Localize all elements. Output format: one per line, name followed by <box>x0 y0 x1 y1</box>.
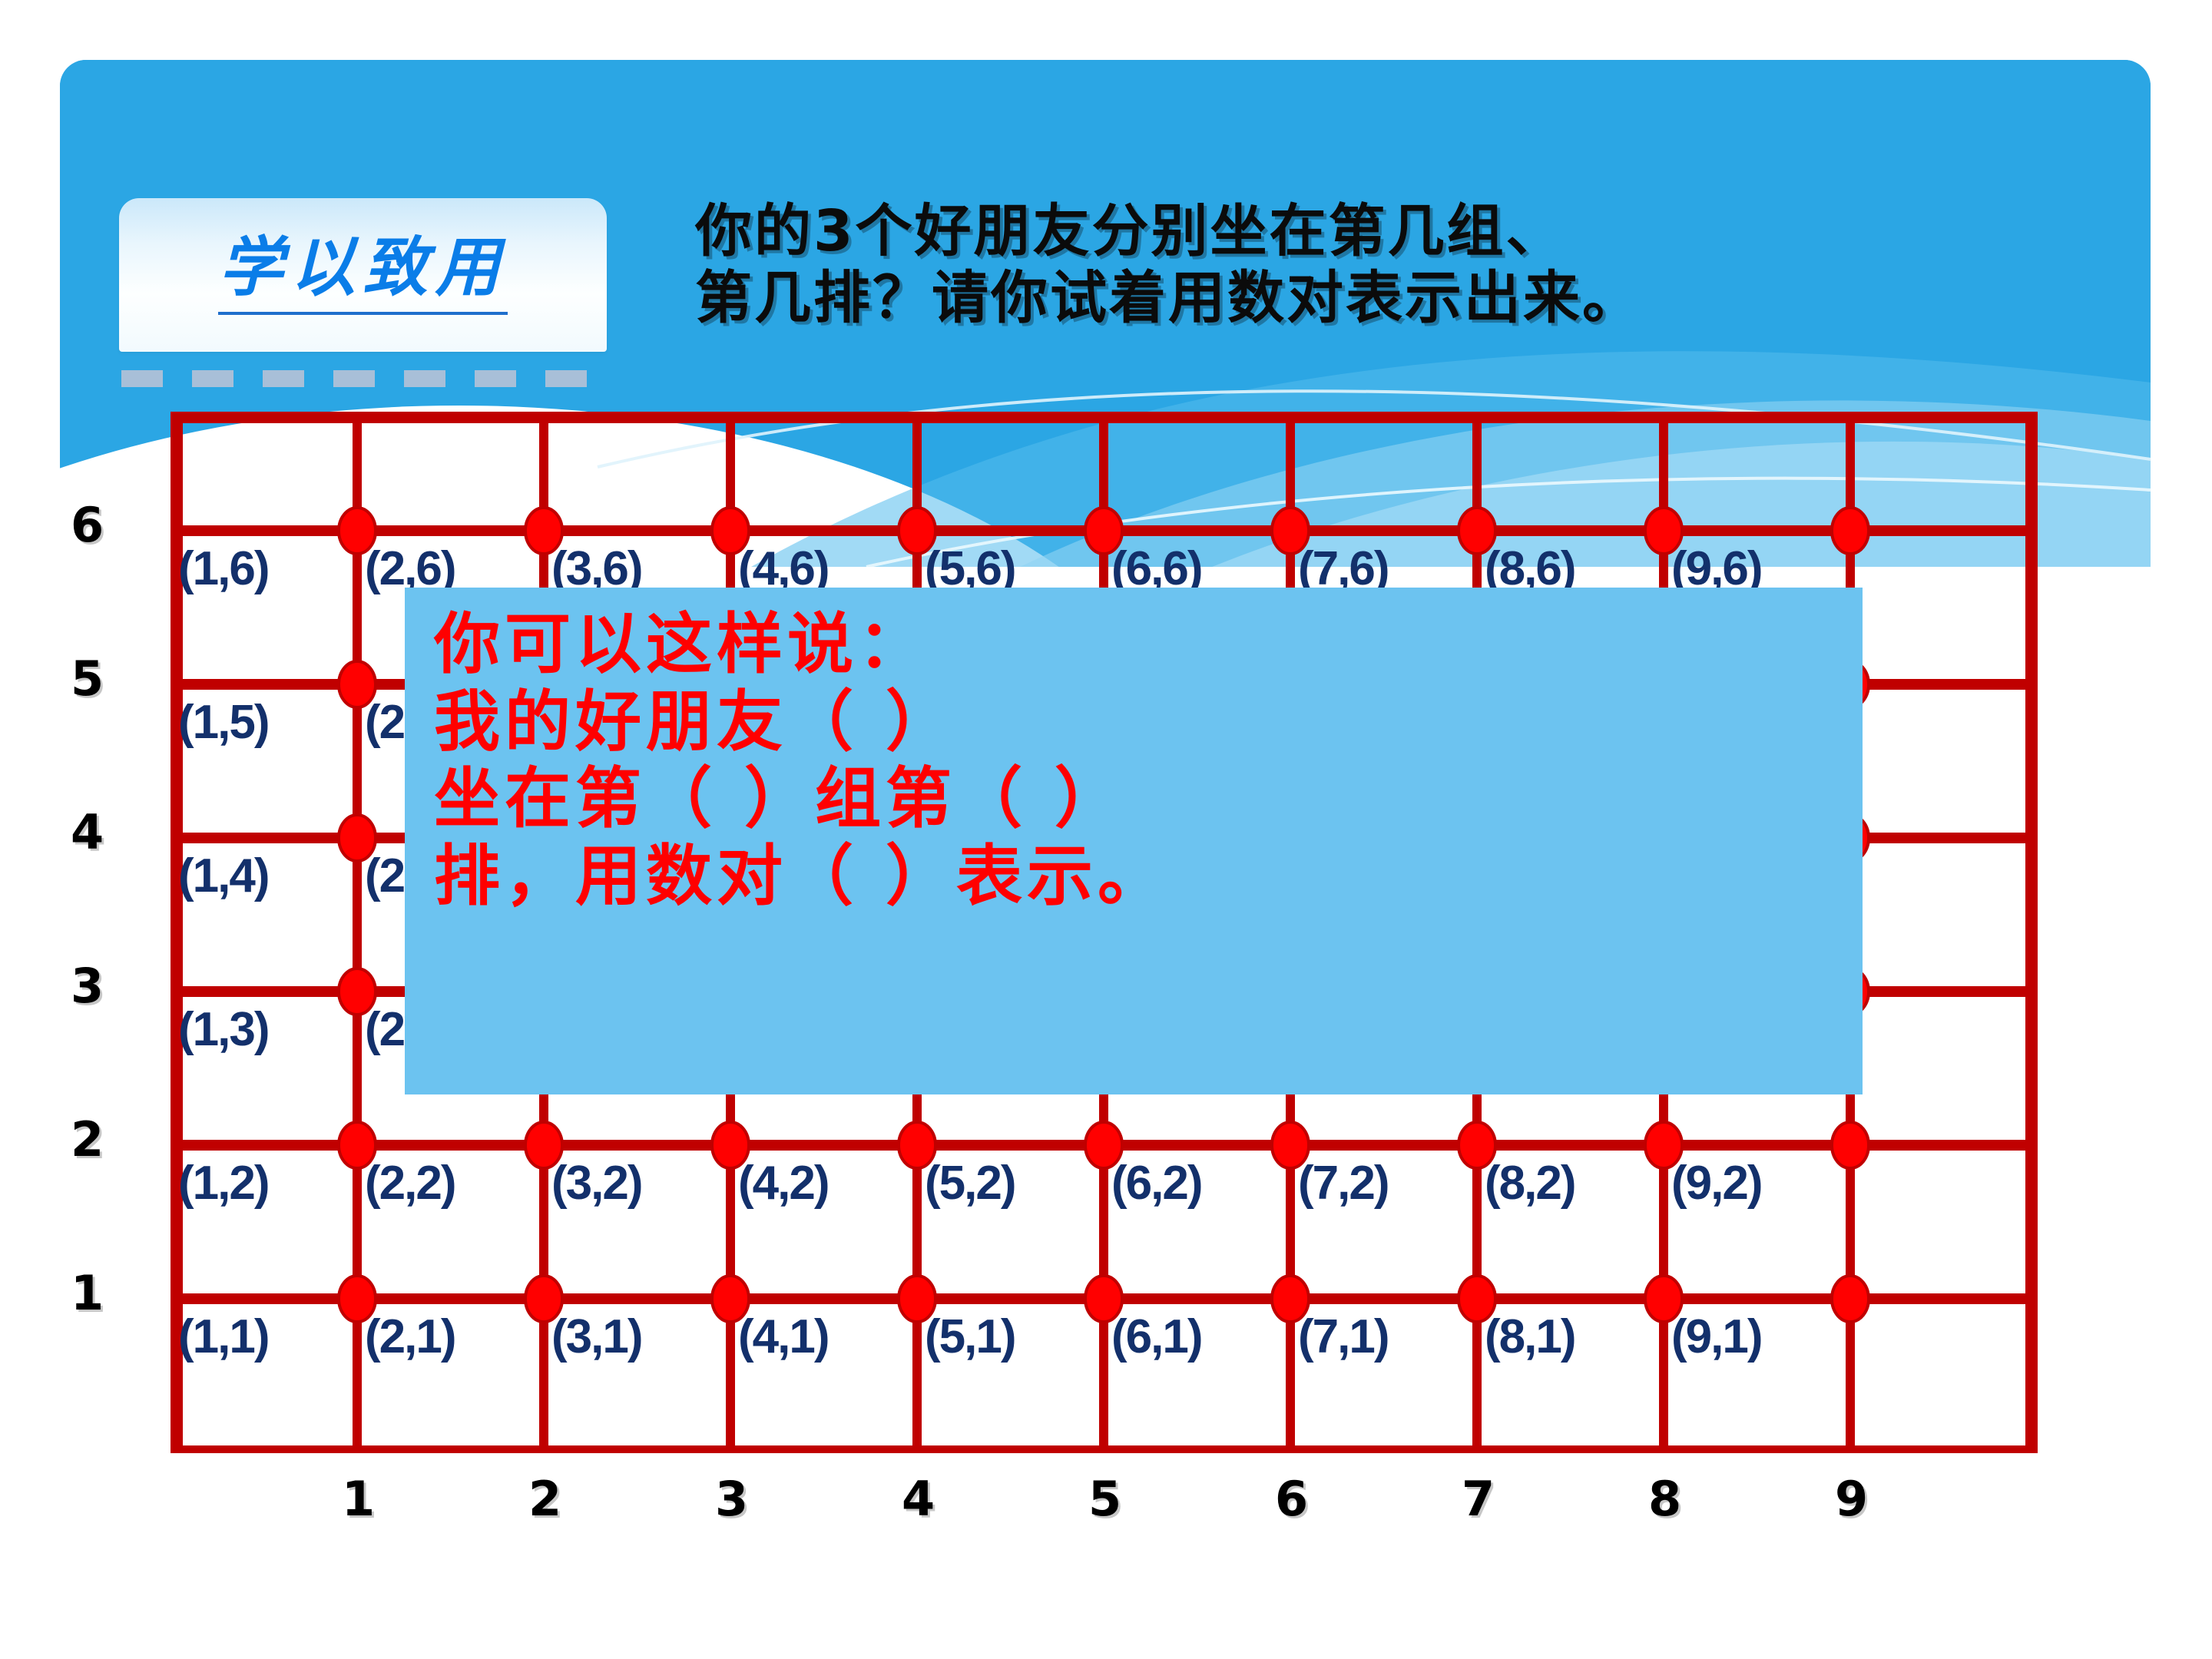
grid-coordinate-label: (2,1) <box>365 1310 541 1364</box>
y-axis-tick-label: 4 <box>71 804 104 860</box>
grid-coordinate-label: (1,3) <box>178 1002 354 1057</box>
grid-coordinate-label: (1,2) <box>178 1156 354 1210</box>
section-title-badge: 学以致用 <box>119 198 607 352</box>
x-axis-tick-label: 5 <box>1088 1471 1121 1527</box>
grid-coordinate-label: (6,2) <box>1111 1156 1287 1210</box>
x-axis-tick-label: 8 <box>1648 1471 1681 1527</box>
section-title-text: 学以致用 <box>218 235 507 315</box>
grid-coordinate-label: (4,2) <box>738 1156 914 1210</box>
question-line-2: 第几排？请你试着用数对表示出来。 <box>695 265 2078 332</box>
callout-line-3: 坐在第（ ）组第（ ） <box>405 760 1863 838</box>
question-prompt: 你的3个好朋友分别坐在第几组、 第几排？请你试着用数对表示出来。 <box>695 198 2078 333</box>
x-axis-tick-label: 9 <box>1835 1471 1868 1527</box>
callout-line-4: 排，用数对（ ）表示。 <box>405 838 1863 916</box>
x-axis-tick-label: 2 <box>528 1471 561 1527</box>
y-axis-tick-label: 5 <box>71 651 104 707</box>
grid-coordinate-label: (6,1) <box>1111 1310 1287 1364</box>
x-axis-tick-label: 4 <box>902 1471 935 1527</box>
grid-coordinate-label: (1,5) <box>178 695 354 750</box>
question-line-1: 你的3个好朋友分别坐在第几组、 <box>695 198 2078 265</box>
hint-callout-box: 你可以这样说： 我的好朋友（ ） 坐在第（ ）组第（ ） 排，用数对（ ）表示。 <box>405 588 1863 1094</box>
x-axis-tick-label: 6 <box>1275 1471 1308 1527</box>
x-axis-tick-label: 3 <box>715 1471 748 1527</box>
grid-coordinate-label: (5,1) <box>925 1310 1101 1364</box>
grid-coordinate-label: (8,1) <box>1485 1310 1661 1364</box>
callout-line-2: 我的好朋友（ ） <box>405 684 1863 761</box>
grid-coordinate-label: (7,1) <box>1298 1310 1474 1364</box>
grid-coordinate-label: (9,1) <box>1671 1310 1847 1364</box>
x-axis-tick-label: 1 <box>342 1471 375 1527</box>
grid-coordinate-label: (4,1) <box>738 1310 914 1364</box>
grid-coordinate-label: (1,6) <box>178 541 354 596</box>
y-axis-tick-label: 6 <box>71 497 104 553</box>
y-axis-tick-label: 3 <box>71 958 104 1014</box>
callout-line-1: 你可以这样说： <box>405 606 1863 684</box>
grid-coordinate-label: (5,2) <box>925 1156 1101 1210</box>
grid-coordinate-label: (7,2) <box>1298 1156 1474 1210</box>
y-axis-tick-label: 1 <box>71 1265 104 1321</box>
title-dashed-divider <box>121 370 613 387</box>
grid-coordinate-label: (2,2) <box>365 1156 541 1210</box>
grid-coordinate-label: (1,1) <box>178 1310 354 1364</box>
grid-coordinate-label: (9,2) <box>1671 1156 1847 1210</box>
grid-coordinate-label: (3,1) <box>551 1310 727 1364</box>
grid-coordinate-label: (8,2) <box>1485 1156 1661 1210</box>
y-axis-tick-label: 2 <box>71 1111 104 1167</box>
x-axis-tick-label: 7 <box>1462 1471 1495 1527</box>
grid-coordinate-label: (3,2) <box>551 1156 727 1210</box>
grid-coordinate-label: (1,4) <box>178 849 354 903</box>
